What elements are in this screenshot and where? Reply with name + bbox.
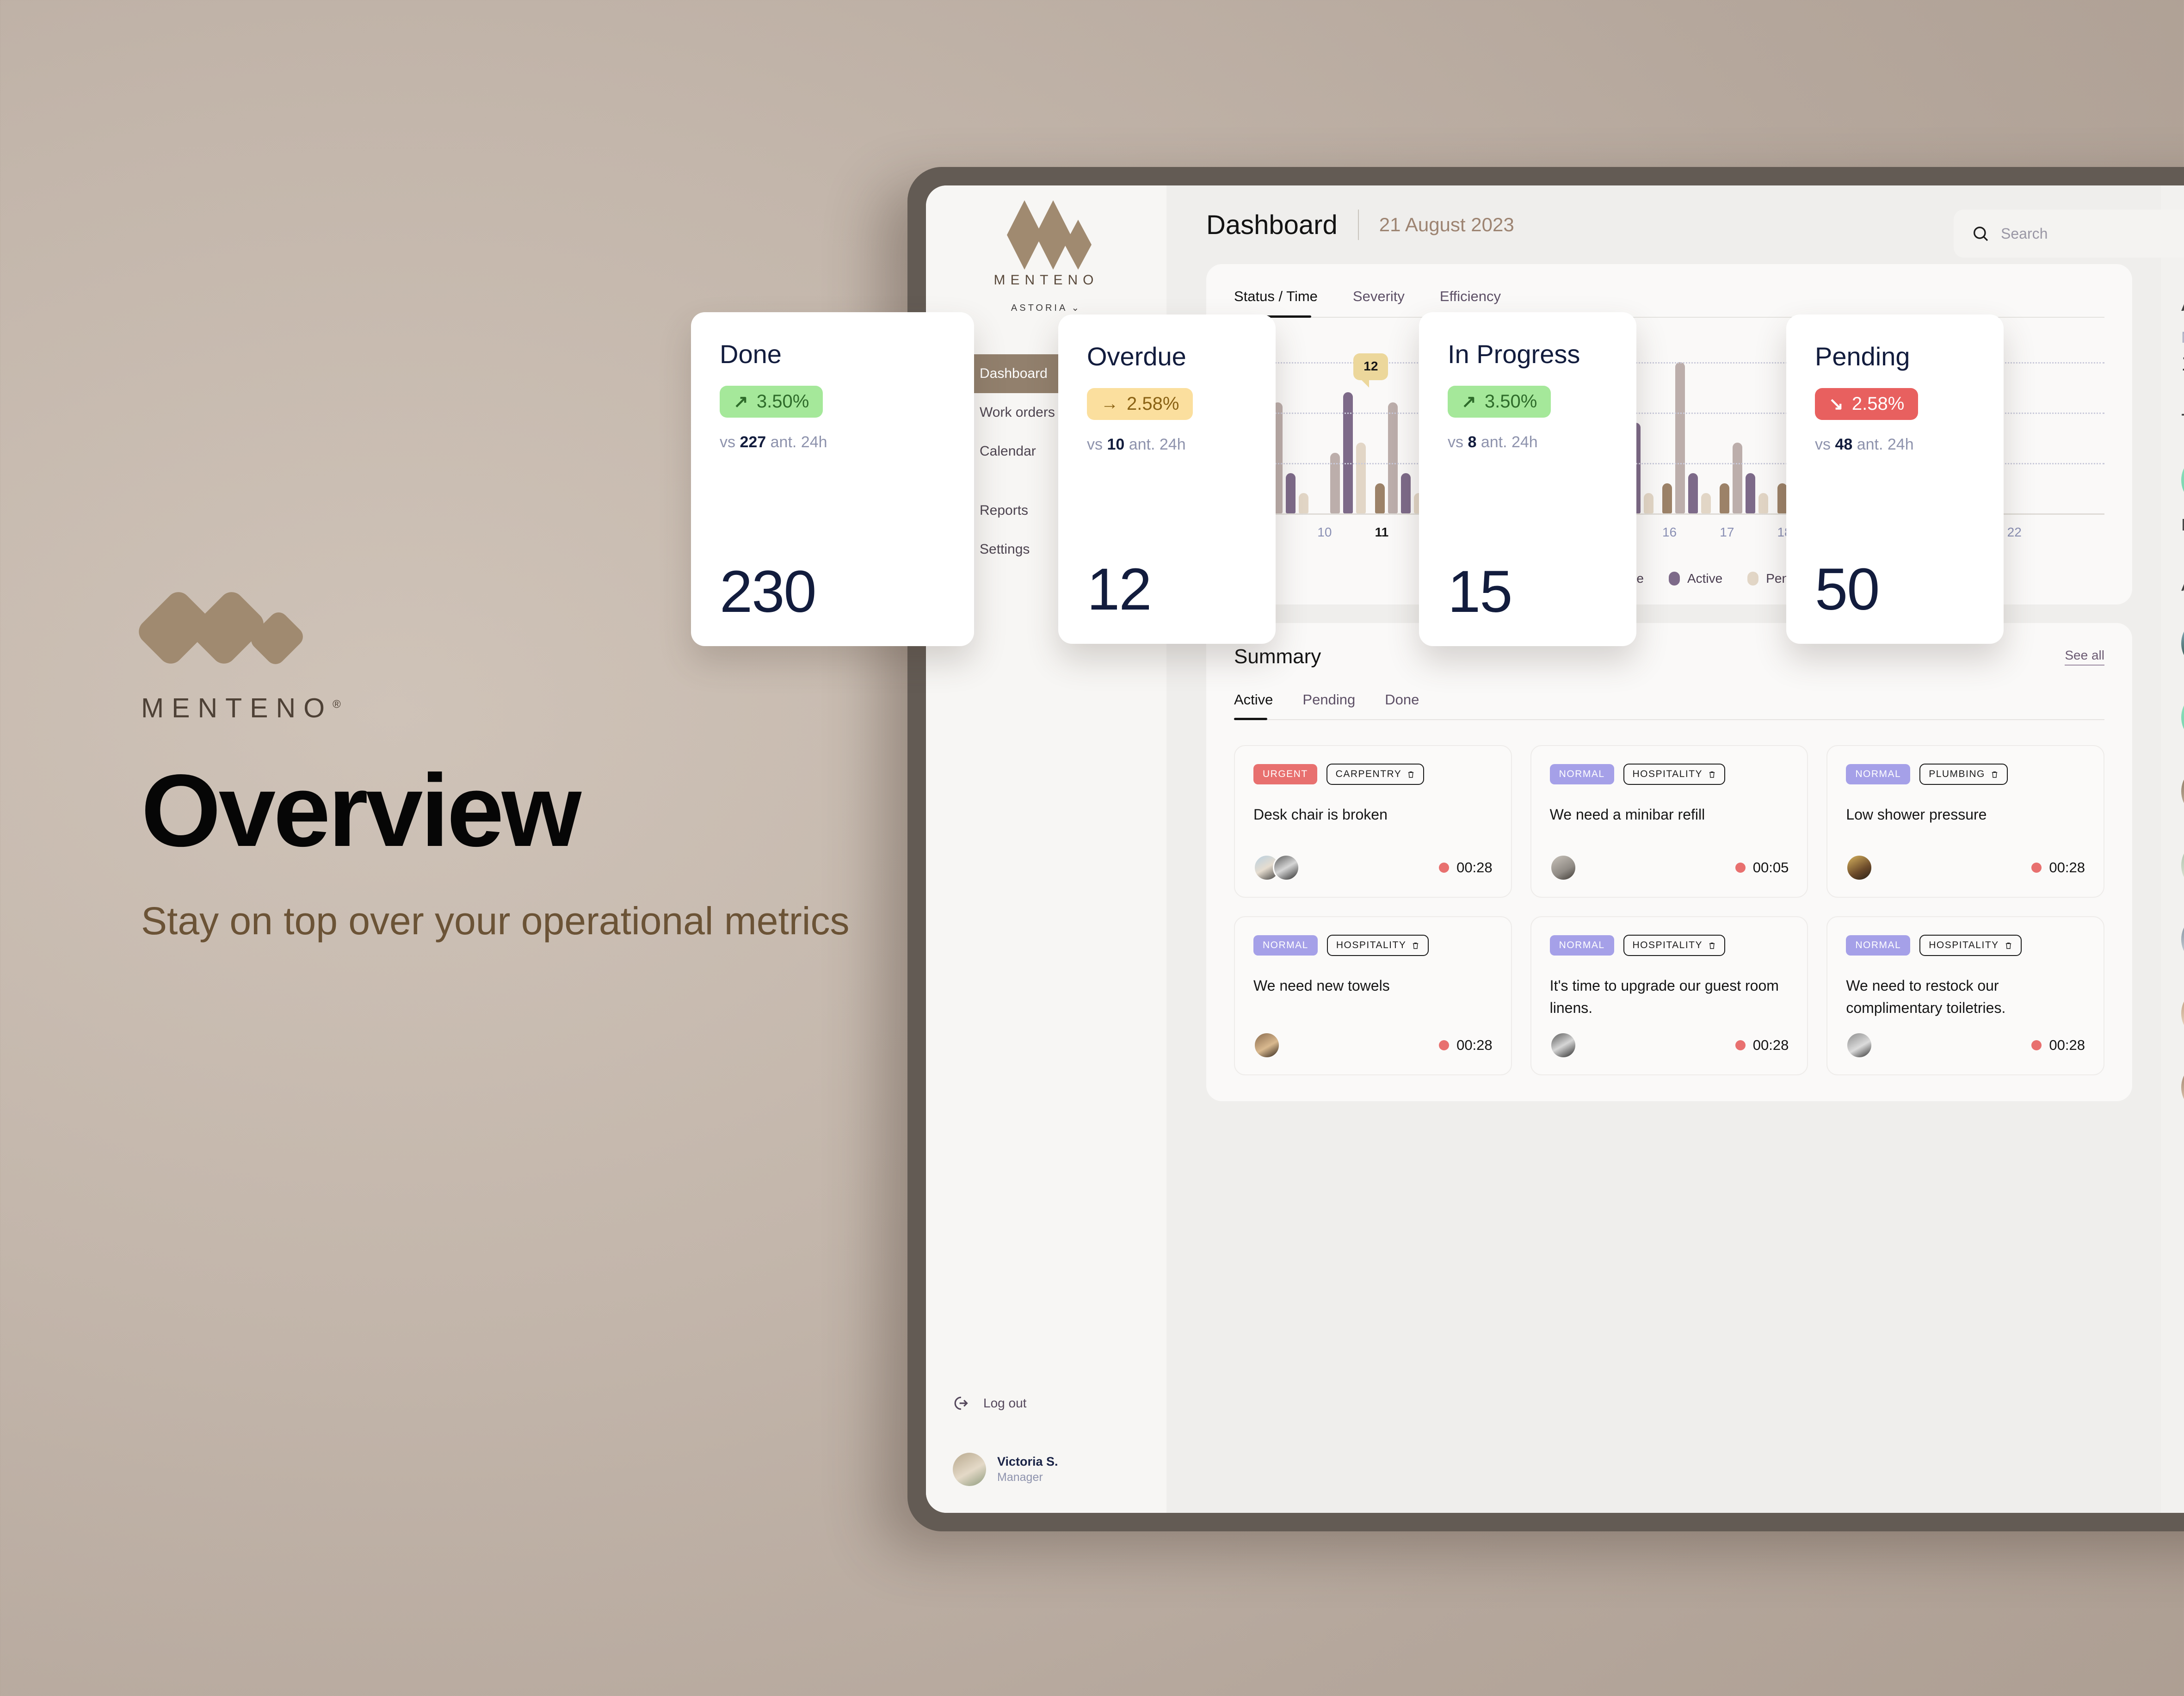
- category-badge[interactable]: HOSPITALITY: [1327, 935, 1429, 956]
- sidebar-item-label: Work orders: [980, 405, 1055, 420]
- x-axis-tick: 22: [2007, 525, 2065, 540]
- comparison-value: 8: [1468, 433, 1476, 451]
- x-axis-tick: 17: [1720, 525, 1777, 540]
- category-label: HOSPITALITY: [1929, 940, 1999, 951]
- logout-button[interactable]: Log out: [954, 1394, 1026, 1412]
- task-timer: 00:28: [1735, 1037, 1789, 1054]
- activity-avatar: [2181, 1061, 2184, 1114]
- task-footer: 00:28: [1253, 1032, 1493, 1059]
- bar-group[interactable]: [1317, 392, 1375, 513]
- task-footer: 00:28: [1846, 1032, 2085, 1059]
- trash-icon: [1407, 770, 1415, 779]
- timer-dot-icon: [2031, 1040, 2042, 1050]
- tab-severity[interactable]: Severity: [1353, 288, 1405, 317]
- sidebar-item-label: Reports: [980, 503, 1028, 518]
- legend-swatch: [1669, 572, 1680, 586]
- priority-badge: NORMAL: [1550, 935, 1614, 956]
- trash-icon: [1991, 770, 1999, 779]
- trash-icon: [1708, 770, 1716, 779]
- tab-active[interactable]: Active: [1234, 691, 1273, 719]
- task-badges: URGENT CARPENTRY: [1253, 764, 1493, 785]
- tab-done[interactable]: Done: [1385, 691, 1419, 719]
- task-card[interactable]: NORMAL HOSPITALITY We need a minibar ref…: [1530, 745, 1808, 898]
- rail-team-member-name: Erica: [2181, 515, 2184, 535]
- stat-card-title: In Progress: [1448, 339, 1608, 369]
- stat-card[interactable]: Done ↗ 3.50% vs 227 ant. 24h 230: [691, 312, 974, 646]
- bar[interactable]: [1375, 483, 1385, 513]
- category-label: CARPENTRY: [1336, 769, 1402, 780]
- avatar: [1550, 854, 1577, 881]
- avatar: [1846, 1032, 1873, 1059]
- task-assignees[interactable]: [1550, 854, 1577, 881]
- category-label: PLUMBING: [1929, 769, 1985, 780]
- task-badges: NORMAL HOSPITALITY: [1550, 935, 1789, 956]
- stat-card-delta: 3.50%: [1485, 391, 1537, 412]
- task-card[interactable]: NORMAL HOSPITALITY We need new towels 00…: [1234, 916, 1512, 1075]
- activity-avatar: [2181, 987, 2184, 1040]
- bar[interactable]: [1343, 392, 1353, 513]
- stat-card-comparison: vs 227 ant. 24h: [720, 433, 945, 451]
- activity-avatar: [2181, 839, 2184, 892]
- right-rail: August Mon 18 Team Erica Activity: [2161, 185, 2184, 1513]
- task-timer: 00:28: [2031, 859, 2085, 876]
- comparison-value: 48: [1835, 436, 1852, 453]
- task-timer: 00:28: [1439, 859, 1493, 876]
- task-title: Low shower pressure: [1846, 803, 2085, 841]
- logout-label: Log out: [983, 1396, 1026, 1411]
- avatar: [1846, 854, 1873, 881]
- category-badge[interactable]: PLUMBING: [1919, 764, 2008, 785]
- trend-arrow-icon: →: [1101, 394, 1118, 414]
- bar[interactable]: [1388, 402, 1398, 513]
- category-badge[interactable]: HOSPITALITY: [1919, 935, 2021, 956]
- see-all-link[interactable]: See all: [2065, 648, 2104, 666]
- task-title: Desk chair is broken: [1253, 803, 1493, 841]
- stat-card[interactable]: In Progress ↗ 3.50% vs 8 ant. 24h 15: [1419, 312, 1636, 646]
- comparison-suffix: ant. 24h: [1481, 433, 1538, 451]
- stat-card-title: Pending: [1815, 341, 1975, 371]
- comparison-value: 227: [740, 433, 766, 451]
- property-switcher[interactable]: ASTORIA⌄: [926, 302, 1166, 314]
- task-assignees[interactable]: [1846, 854, 1873, 881]
- task-footer: 00:28: [1253, 854, 1493, 881]
- comparison-prefix: vs: [1448, 433, 1463, 451]
- search-input[interactable]: Search: [1954, 210, 2184, 258]
- bar[interactable]: [1720, 483, 1729, 513]
- chevron-down-icon: ⌄: [1071, 302, 1081, 314]
- stat-card-value: 12: [1087, 555, 1151, 623]
- stat-card-delta-badge: → 2.58%: [1087, 388, 1193, 420]
- bar[interactable]: [1330, 453, 1340, 513]
- bar[interactable]: [1688, 473, 1698, 513]
- sidebar-item-label: Settings: [980, 542, 1030, 557]
- comparison-value: 10: [1107, 436, 1124, 453]
- bar[interactable]: [1758, 493, 1768, 513]
- bar[interactable]: [1299, 493, 1308, 513]
- x-axis-tick: 16: [1662, 525, 1720, 540]
- task-badges: NORMAL HOSPITALITY: [1846, 935, 2085, 956]
- rail-day-number: 18: [2181, 351, 2184, 376]
- timer-value: 00:28: [2049, 1037, 2085, 1054]
- bar[interactable]: [1701, 493, 1711, 513]
- avatar: [1550, 1032, 1577, 1059]
- task-card[interactable]: NORMAL PLUMBING Low shower pressure 00:2…: [1826, 745, 2104, 898]
- comparison-suffix: ant. 24h: [1129, 436, 1186, 453]
- category-badge[interactable]: CARPENTRY: [1326, 764, 1425, 785]
- trend-arrow-icon: ↘: [1829, 394, 1844, 414]
- page-title: Dashboard: [1206, 210, 1338, 241]
- content-column: Dashboard 21 August 2023 Status / Time S…: [1166, 185, 2161, 1513]
- header-divider: [1358, 210, 1359, 240]
- promo-title: Overview: [141, 759, 927, 863]
- avatar: [953, 1453, 986, 1486]
- rail-month: August: [2181, 289, 2184, 317]
- bar[interactable]: [1401, 473, 1411, 513]
- x-axis-tick: 10: [1317, 525, 1375, 540]
- trash-icon: [2005, 941, 2012, 950]
- bar[interactable]: [1356, 443, 1366, 513]
- task-badges: NORMAL PLUMBING: [1846, 764, 2085, 785]
- activity-avatar: [2181, 765, 2184, 818]
- stat-card-value: 230: [720, 558, 816, 626]
- stat-card[interactable]: Overdue → 2.58% vs 10 ant. 24h 12: [1058, 315, 1276, 644]
- property-name: ASTORIA: [1011, 303, 1067, 313]
- tab-status-time[interactable]: Status / Time: [1234, 288, 1318, 317]
- stat-card-delta: 3.50%: [757, 391, 809, 412]
- trash-icon: [1412, 941, 1419, 950]
- avatar: [1273, 854, 1300, 881]
- trash-icon: [1708, 941, 1716, 950]
- user-role: Manager: [997, 1470, 1058, 1486]
- stat-card-comparison: vs 10 ant. 24h: [1087, 436, 1247, 454]
- stat-card-title: Done: [720, 339, 945, 369]
- task-card[interactable]: URGENT CARPENTRY Desk chair is broken 00…: [1234, 745, 1512, 898]
- comparison-suffix: ant. 24h: [1857, 436, 1914, 453]
- comparison-suffix: ant. 24h: [771, 433, 827, 451]
- timer-value: 00:05: [1753, 859, 1789, 876]
- promo-subtitle: Stay on top over your operational metric…: [141, 896, 927, 946]
- stat-card-delta-badge: ↘ 2.58%: [1815, 388, 1918, 420]
- summary-header: Summary See all: [1234, 645, 2104, 668]
- avatar: [1253, 1032, 1280, 1059]
- task-assignees[interactable]: [1253, 854, 1300, 881]
- chart-tooltip: 12: [1353, 353, 1388, 380]
- task-badges: NORMAL HOSPITALITY: [1253, 935, 1493, 956]
- stat-card[interactable]: Pending ↘ 2.58% vs 48 ant. 24h 50: [1786, 315, 2004, 644]
- task-title: We need a minibar refill: [1550, 803, 1789, 841]
- menteno-logo-mark: [141, 585, 301, 673]
- task-assignees[interactable]: [1846, 1032, 1873, 1059]
- timer-dot-icon: [1439, 863, 1449, 873]
- rail-day-of-week: Mon: [2181, 329, 2184, 347]
- category-badge[interactable]: HOSPITALITY: [1623, 764, 1725, 785]
- task-card[interactable]: NORMAL HOSPITALITY We need to restock ou…: [1826, 916, 2104, 1075]
- rail-team-heading: Team: [2181, 409, 2184, 435]
- header-date: 21 August 2023: [1379, 214, 1514, 236]
- category-badge[interactable]: HOSPITALITY: [1623, 935, 1725, 956]
- user-profile[interactable]: Victoria S. Manager: [953, 1453, 1058, 1486]
- summary-title: Summary: [1234, 645, 1321, 668]
- timer-dot-icon: [1735, 863, 1746, 873]
- priority-badge: NORMAL: [1846, 935, 1910, 956]
- trend-arrow-icon: ↗: [1462, 391, 1476, 412]
- rail-team-member[interactable]: Erica: [2181, 453, 2184, 535]
- timer-dot-icon: [2031, 863, 2042, 873]
- priority-badge: URGENT: [1253, 764, 1317, 784]
- wordmark-text: MENTENO: [141, 693, 333, 723]
- avatar: [2181, 453, 2184, 507]
- category-label: HOSPITALITY: [1633, 940, 1703, 951]
- sidebar-item-label: Calendar: [980, 444, 1036, 459]
- summary-tabs: Active Pending Done: [1234, 691, 2104, 720]
- sidebar-wordmark: MENTENO: [926, 272, 1166, 288]
- timer-value: 00:28: [1456, 1037, 1493, 1054]
- bar[interactable]: [1733, 443, 1742, 513]
- timer-value: 00:28: [2049, 859, 2085, 876]
- legend-swatch: [1747, 572, 1758, 586]
- legend-item[interactable]: Active: [1669, 571, 1722, 586]
- search-icon: [1971, 224, 1990, 243]
- user-text: Victoria S. Manager: [997, 1453, 1058, 1486]
- bar-group[interactable]: [1662, 362, 1720, 513]
- category-label: HOSPITALITY: [1336, 940, 1406, 951]
- comparison-prefix: vs: [1815, 436, 1831, 453]
- task-card[interactable]: NORMAL HOSPITALITY It's time to upgrade …: [1530, 916, 1808, 1075]
- comparison-prefix: vs: [1087, 436, 1103, 453]
- bar[interactable]: [1746, 473, 1755, 513]
- search-placeholder: Search: [2001, 225, 2048, 242]
- stat-card-comparison: vs 48 ant. 24h: [1815, 436, 1975, 454]
- trend-arrow-icon: ↗: [734, 391, 748, 412]
- sidebar-logo-mark: [1002, 210, 1090, 260]
- bar-group[interactable]: [1720, 443, 1777, 513]
- stat-card-delta-badge: ↗ 3.50%: [1448, 386, 1551, 418]
- priority-badge: NORMAL: [1550, 764, 1614, 784]
- task-title: We need to restock our complimentary toi…: [1846, 974, 2085, 1019]
- stat-card-value: 50: [1815, 555, 1879, 623]
- task-timer: 00:28: [1439, 1037, 1493, 1054]
- main-area: Dashboard 21 August 2023 Status / Time S…: [1166, 185, 2184, 1513]
- sidebar-brand: MENTENO ASTORIA⌄: [926, 210, 1166, 314]
- rail-activity-heading: Activity: [2181, 571, 2184, 596]
- timer-dot-icon: [1735, 1040, 1746, 1050]
- registered-mark: ®: [333, 698, 341, 710]
- stat-card-delta: 2.58%: [1127, 394, 1179, 414]
- menteno-wordmark: MENTENO®: [141, 692, 341, 724]
- stat-card-comparison: vs 8 ant. 24h: [1448, 433, 1608, 451]
- bar[interactable]: [1286, 473, 1296, 513]
- category-label: HOSPITALITY: [1633, 769, 1703, 780]
- task-timer: 00:28: [2031, 1037, 2085, 1054]
- activity-avatar: [2181, 617, 2184, 670]
- stat-card-delta-badge: ↗ 3.50%: [720, 386, 823, 418]
- task-assignees[interactable]: [1253, 1032, 1280, 1059]
- bar[interactable]: [1675, 362, 1685, 513]
- task-title: We need new towels: [1253, 974, 1493, 1019]
- task-footer: 00:28: [1550, 1032, 1789, 1059]
- task-badges: NORMAL HOSPITALITY: [1550, 764, 1789, 785]
- summary-card: Summary See all Active Pending Done URGE…: [1206, 623, 2132, 1101]
- chart-tabs: Status / Time Severity Efficiency: [1234, 288, 2104, 318]
- stat-card-delta: 2.58%: [1852, 394, 1904, 414]
- task-timer: 00:05: [1735, 859, 1789, 876]
- legend-label: Active: [1687, 571, 1722, 586]
- comparison-prefix: vs: [720, 433, 735, 451]
- timer-value: 00:28: [1456, 859, 1493, 876]
- activity-avatar: [2181, 913, 2184, 966]
- stat-card-value: 15: [1448, 558, 1512, 626]
- bar[interactable]: [1662, 483, 1672, 513]
- stat-card-title: Overdue: [1087, 341, 1247, 371]
- task-footer: 00:05: [1550, 854, 1789, 881]
- logout-icon: [954, 1394, 971, 1412]
- timer-dot-icon: [1439, 1040, 1449, 1050]
- priority-badge: NORMAL: [1253, 935, 1318, 956]
- bar[interactable]: [1777, 483, 1787, 513]
- timer-value: 00:28: [1753, 1037, 1789, 1054]
- bar[interactable]: [1644, 493, 1653, 513]
- activity-avatar: [2181, 691, 2184, 744]
- sidebar-item-label: Dashboard: [980, 366, 1048, 382]
- task-title: It's time to upgrade our guest room line…: [1550, 974, 1789, 1019]
- task-assignees[interactable]: [1550, 1032, 1577, 1059]
- tab-pending[interactable]: Pending: [1302, 691, 1355, 719]
- task-footer: 00:28: [1846, 854, 2085, 881]
- user-name: Victoria S.: [997, 1453, 1058, 1470]
- task-grid: URGENT CARPENTRY Desk chair is broken 00…: [1234, 745, 2104, 1075]
- priority-badge: NORMAL: [1846, 764, 1910, 784]
